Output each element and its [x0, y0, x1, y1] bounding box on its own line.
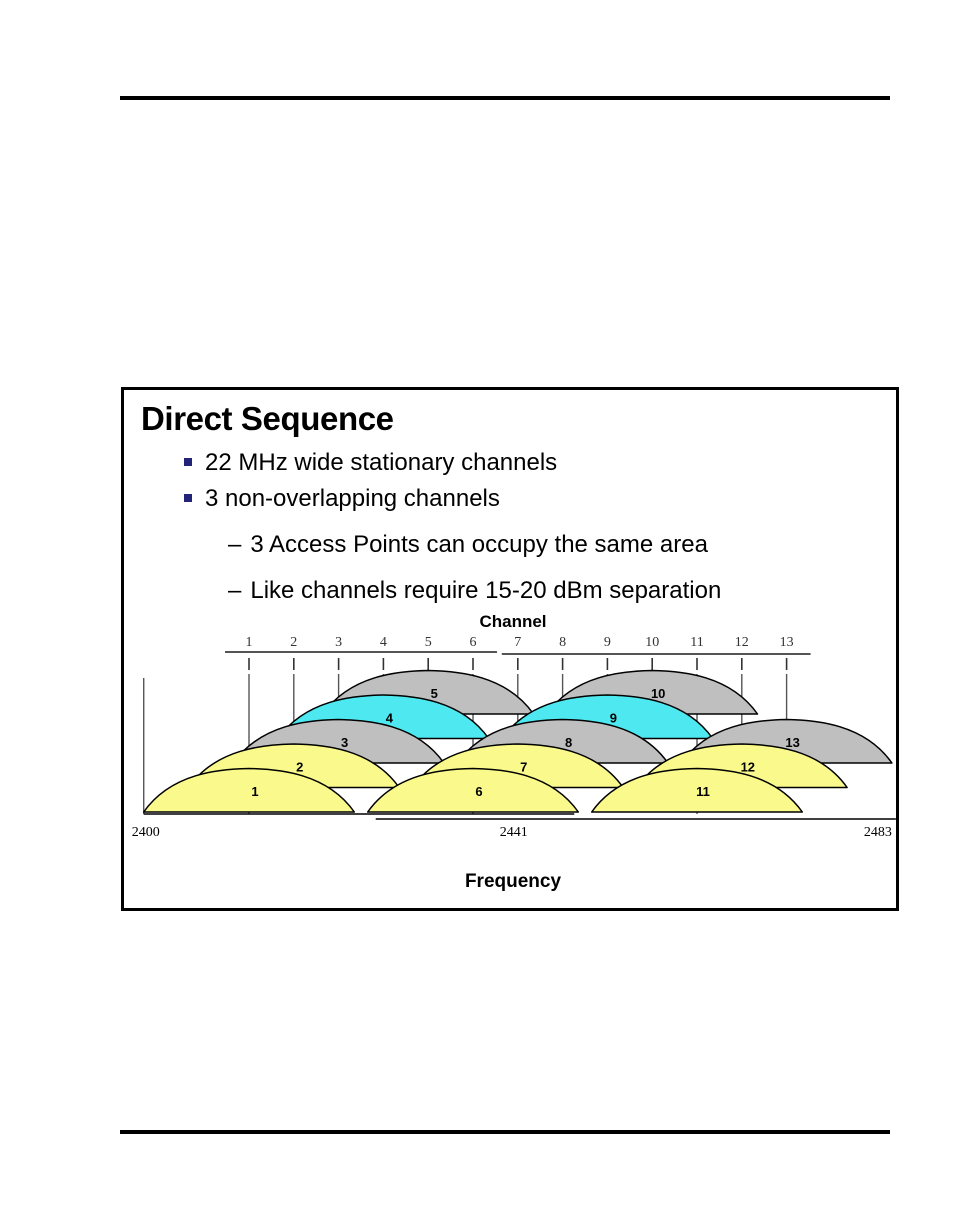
channel-bump-label: 12: [741, 760, 755, 775]
channel-bump-label: 2: [296, 760, 303, 775]
channel-spectrum-chart: Channel 12345678910111213510493813271216…: [124, 612, 902, 902]
bullet-text: 3 non-overlapping channels: [205, 485, 500, 512]
channel-tick-label-9: 9: [604, 635, 611, 650]
bullet-item-3: –3 Access Points can occupy the same are…: [228, 530, 896, 560]
channel-tick-label-10: 10: [645, 635, 659, 650]
square-bullet-icon: [184, 458, 192, 466]
channel-bump-label: 11: [696, 784, 710, 799]
bullet-text: 22 MHz wide stationary channels: [205, 449, 557, 476]
channel-tick-label-12: 12: [735, 635, 749, 650]
channel-tick-label-11: 11: [690, 635, 703, 650]
channel-tick-label-2: 2: [290, 635, 297, 650]
channel-bump-label: 9: [610, 711, 617, 726]
bullet-list: 22 MHz wide stationary channels 3 non-ov…: [124, 448, 896, 606]
channel-bump-label: 4: [386, 711, 394, 726]
channel-bump-label: 13: [785, 735, 799, 750]
channel-tick-label-1: 1: [246, 635, 253, 650]
chart-svg: 1234567891011121351049381327121611240024…: [124, 626, 902, 876]
chart-canvas: 1234567891011121351049381327121611240024…: [124, 626, 902, 876]
bullet-item-1: 22 MHz wide stationary channels: [184, 448, 896, 478]
bullet-item-4: –Like channels require 15-20 dBm separat…: [228, 576, 896, 606]
presentation-slide: Direct Sequence 22 MHz wide stationary c…: [121, 387, 899, 911]
channel-tick-label-3: 3: [335, 635, 342, 650]
channel-tick-label-8: 8: [559, 635, 566, 650]
channel-bump-label: 7: [520, 760, 527, 775]
footer-rule: [120, 1130, 890, 1134]
channel-bump-label: 1: [251, 784, 258, 799]
frequency-tick-label-2400: 2400: [132, 825, 160, 840]
channel-tick-label-5: 5: [425, 635, 432, 650]
channel-bump-label: 6: [475, 784, 482, 799]
dash-bullet-icon: –: [228, 530, 241, 560]
channel-bump-label: 8: [565, 735, 572, 750]
square-bullet-icon: [184, 494, 192, 502]
document-page: Direct Sequence 22 MHz wide stationary c…: [0, 0, 972, 1224]
channel-tick-label-13: 13: [780, 635, 794, 650]
frequency-tick-label-2441: 2441: [500, 825, 528, 840]
frequency-tick-label-2483: 2483: [864, 825, 892, 840]
bullet-item-2: 3 non-overlapping channels: [184, 484, 896, 514]
bullet-text: Like channels require 15-20 dBm separati…: [250, 577, 721, 604]
slide-title: Direct Sequence: [141, 400, 394, 438]
channel-bump-label: 10: [651, 686, 665, 701]
channel-tick-label-7: 7: [514, 635, 521, 650]
dash-bullet-icon: –: [228, 576, 241, 606]
channel-bump-label: 3: [341, 735, 348, 750]
header-rule: [120, 96, 890, 100]
channel-tick-label-4: 4: [380, 635, 387, 650]
channel-bump-label: 5: [431, 686, 438, 701]
bullet-text: 3 Access Points can occupy the same area: [250, 531, 708, 558]
chart-x-axis-title: Frequency: [124, 871, 902, 893]
channel-tick-label-6: 6: [470, 635, 477, 650]
